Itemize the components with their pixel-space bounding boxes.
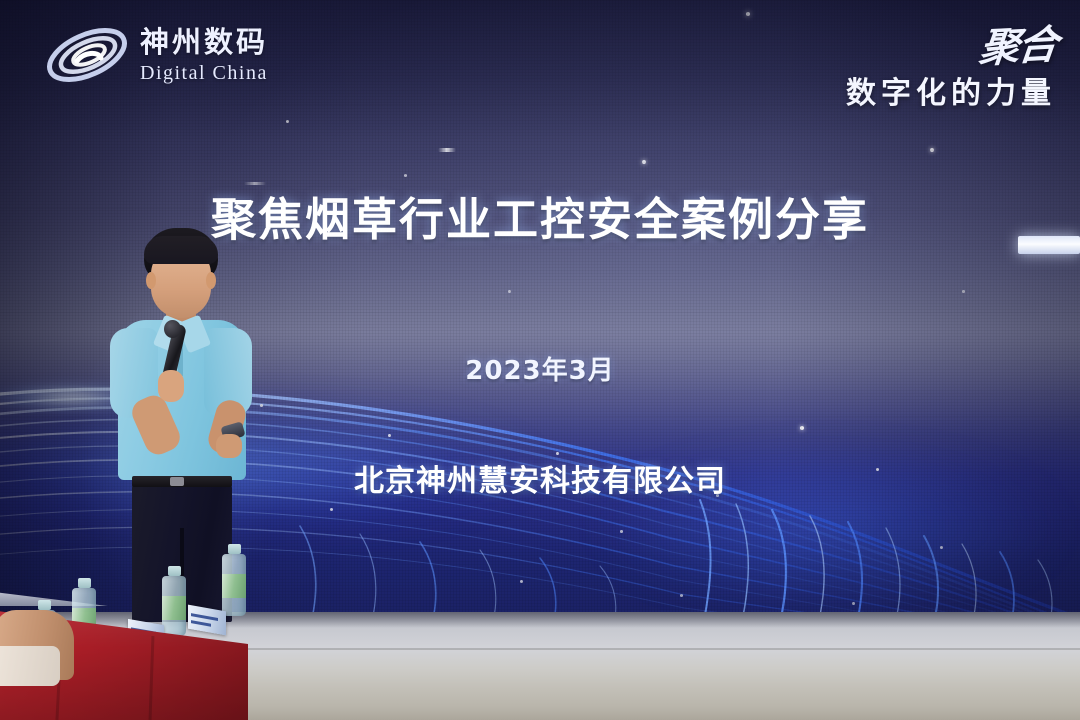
conference-photo: 神州数码 Digital China 聚合 数字化的力量 聚焦烟草行业工控安全案… [0,0,1080,720]
event-logo-tagline: 数字化的力量 [846,68,1056,112]
speaker-ear-left [146,272,156,289]
digital-china-chinese: 神州数码 [140,28,268,57]
digital-china-logo: 神州数码 Digital China [44,22,268,88]
table-top-surface [0,592,244,606]
event-logo: 聚合 数字化的力量 [846,14,1056,112]
name-card [188,605,226,636]
speaker-hair-front [144,236,218,264]
seated-attendee-papers [0,646,60,686]
digital-china-english: Digital China [140,63,268,83]
microphone-head [164,320,181,338]
speaker-ear-right [206,272,216,289]
event-logo-calligraphy: 聚合 [977,12,1060,74]
belt-buckle [170,477,184,486]
speaker-hand-left [158,370,184,402]
speaker-hand-right [216,434,242,458]
digital-china-swirl-icon [44,22,130,88]
